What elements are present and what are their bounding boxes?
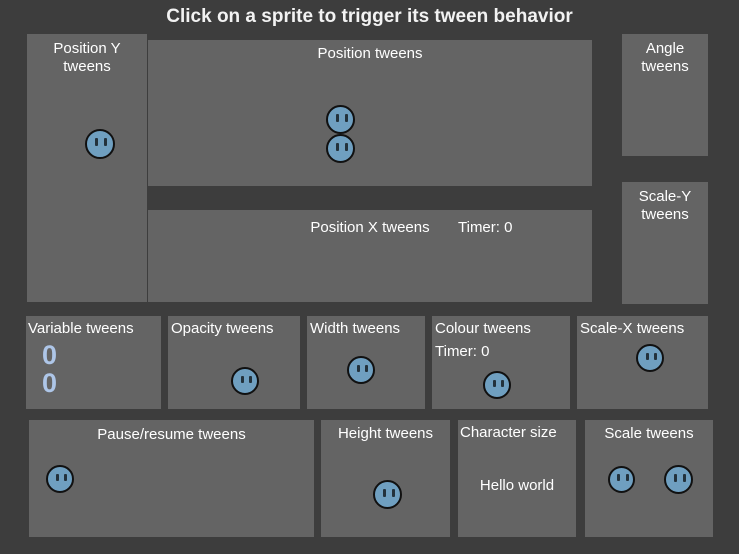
sprite-eye-2-icon <box>392 489 395 497</box>
sprite-eye-2-icon <box>683 474 686 482</box>
panel-scale-x: Scale-X tweens <box>577 316 708 409</box>
panel-label-scale-x: Scale-X tweens <box>580 320 684 338</box>
app-stage: Click on a sprite to trigger its tween b… <box>0 0 739 554</box>
panel-opacity: Opacity tweens <box>168 316 300 409</box>
sprite-eye-1-icon <box>674 474 677 482</box>
panel-label-scale: Scale tweens <box>585 425 713 443</box>
panel-angle: Angle tweens <box>622 34 708 156</box>
variable-value-1: 0 <box>42 342 57 368</box>
sprite-pause-resume-1[interactable] <box>46 465 74 493</box>
panel-colour: Colour tweensTimer: 0 <box>432 316 570 409</box>
sprite-eye-2-icon <box>345 114 348 122</box>
sprite-scale-x-1[interactable] <box>636 344 664 372</box>
sprite-eye-1-icon <box>617 474 620 481</box>
sprite-eye-1-icon <box>357 365 360 372</box>
sprite-position-2[interactable] <box>326 134 355 163</box>
panel-pause-resume: Pause/resume tweens <box>29 420 314 537</box>
variable-value-2: 0 <box>42 370 57 396</box>
panel-label-width: Width tweens <box>310 320 400 338</box>
sprite-position-y-1[interactable] <box>85 129 115 159</box>
sprite-position-1[interactable] <box>326 105 355 134</box>
panel-character-size: Character sizeHello world <box>458 420 576 537</box>
panel-position-y: Position Y tweens <box>27 34 147 302</box>
sprite-width-1[interactable] <box>347 356 375 384</box>
sprite-height-1[interactable] <box>373 480 402 509</box>
panel-label-character-size: Character size <box>460 424 557 442</box>
panel-label-position-y: Position Y tweens <box>27 40 147 76</box>
panel-label-angle: Angle tweens <box>622 40 708 76</box>
sprite-eye-2-icon <box>365 365 368 372</box>
sprite-eye-2-icon <box>654 353 657 360</box>
panel-label-scale-y: Scale-Y tweens <box>622 188 708 224</box>
sprite-scale-2[interactable] <box>664 465 693 494</box>
sprite-eye-1-icon <box>336 143 339 151</box>
panel-label-height: Height tweens <box>321 425 450 443</box>
panel-height: Height tweens <box>321 420 450 537</box>
sprite-eye-2-icon <box>249 376 252 383</box>
page-title: Click on a sprite to trigger its tween b… <box>0 6 739 28</box>
panel-label-opacity: Opacity tweens <box>171 320 274 338</box>
sprite-eye-1-icon <box>383 489 386 497</box>
panel-label-position: Position tweens <box>148 45 592 63</box>
sprite-eye-2-icon <box>345 143 348 151</box>
sprite-opacity-1[interactable] <box>231 367 259 395</box>
sprite-scale-1[interactable] <box>608 466 635 493</box>
panel-variable: Variable tweens00 <box>26 316 161 409</box>
sprite-eye-1-icon <box>56 474 59 481</box>
sprite-eye-1-icon <box>336 114 339 122</box>
panel-scale-y: Scale-Y tweens <box>622 182 708 304</box>
panel-label-pause-resume: Pause/resume tweens <box>29 426 314 444</box>
sprite-colour-1[interactable] <box>483 371 511 399</box>
panel-label-variable: Variable tweens <box>28 320 134 338</box>
panel-width: Width tweens <box>307 316 425 409</box>
character-size-text: Hello world <box>458 477 576 494</box>
sprite-eye-1-icon <box>241 376 244 383</box>
sprite-eye-2-icon <box>501 380 504 387</box>
panel-label-colour: Colour tweens <box>435 320 531 338</box>
panel-label-position-x: Position X tweens <box>148 219 592 237</box>
sprite-eye-2-icon <box>104 138 107 146</box>
panel-position: Position tweens <box>148 40 592 186</box>
panel-timer-position-x: Timer: 0 <box>458 219 512 237</box>
sprite-eye-1-icon <box>646 353 649 360</box>
panel-timer-colour: Timer: 0 <box>435 343 489 361</box>
sprite-eye-1-icon <box>95 138 98 146</box>
panel-position-x: Position X tweensTimer: 0 <box>148 210 592 302</box>
sprite-eye-2-icon <box>64 474 67 481</box>
sprite-eye-1-icon <box>493 380 496 387</box>
sprite-eye-2-icon <box>626 474 629 481</box>
panel-scale: Scale tweens <box>585 420 713 537</box>
